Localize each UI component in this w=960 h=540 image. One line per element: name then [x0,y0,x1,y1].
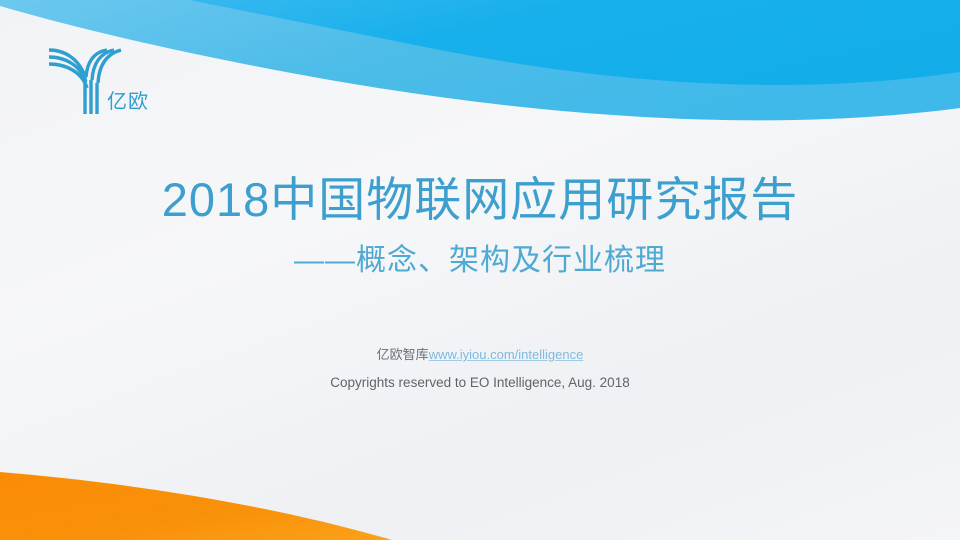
source-line: 亿欧智库www.iyiou.com/intelligence [0,345,960,365]
credits-block: 亿欧智库www.iyiou.com/intelligence Copyright… [0,345,960,393]
brand-logo[interactable]: 亿欧 [44,36,162,118]
wave-orange [0,472,392,540]
slide-canvas: 亿欧 2018中国物联网应用研究报告 ——概念、架构及行业梳理 亿欧智库www.… [0,0,960,540]
yi-ou-tree-mark-icon: 亿欧 [44,36,162,118]
title-block: 2018中国物联网应用研究报告 ——概念、架构及行业梳理 [0,170,960,281]
page-subtitle: ——概念、架构及行业梳理 [0,241,960,281]
wave-blue-dark [160,0,960,85]
source-url-link[interactable]: www.iyiou.com/intelligence [429,347,584,362]
page-title: 2018中国物联网应用研究报告 [0,170,960,230]
logo-wordmark: 亿欧 [107,90,149,113]
source-org: 亿欧智库 [377,347,429,362]
copyright-line: Copyrights reserved to EO Intelligence, … [0,373,960,393]
